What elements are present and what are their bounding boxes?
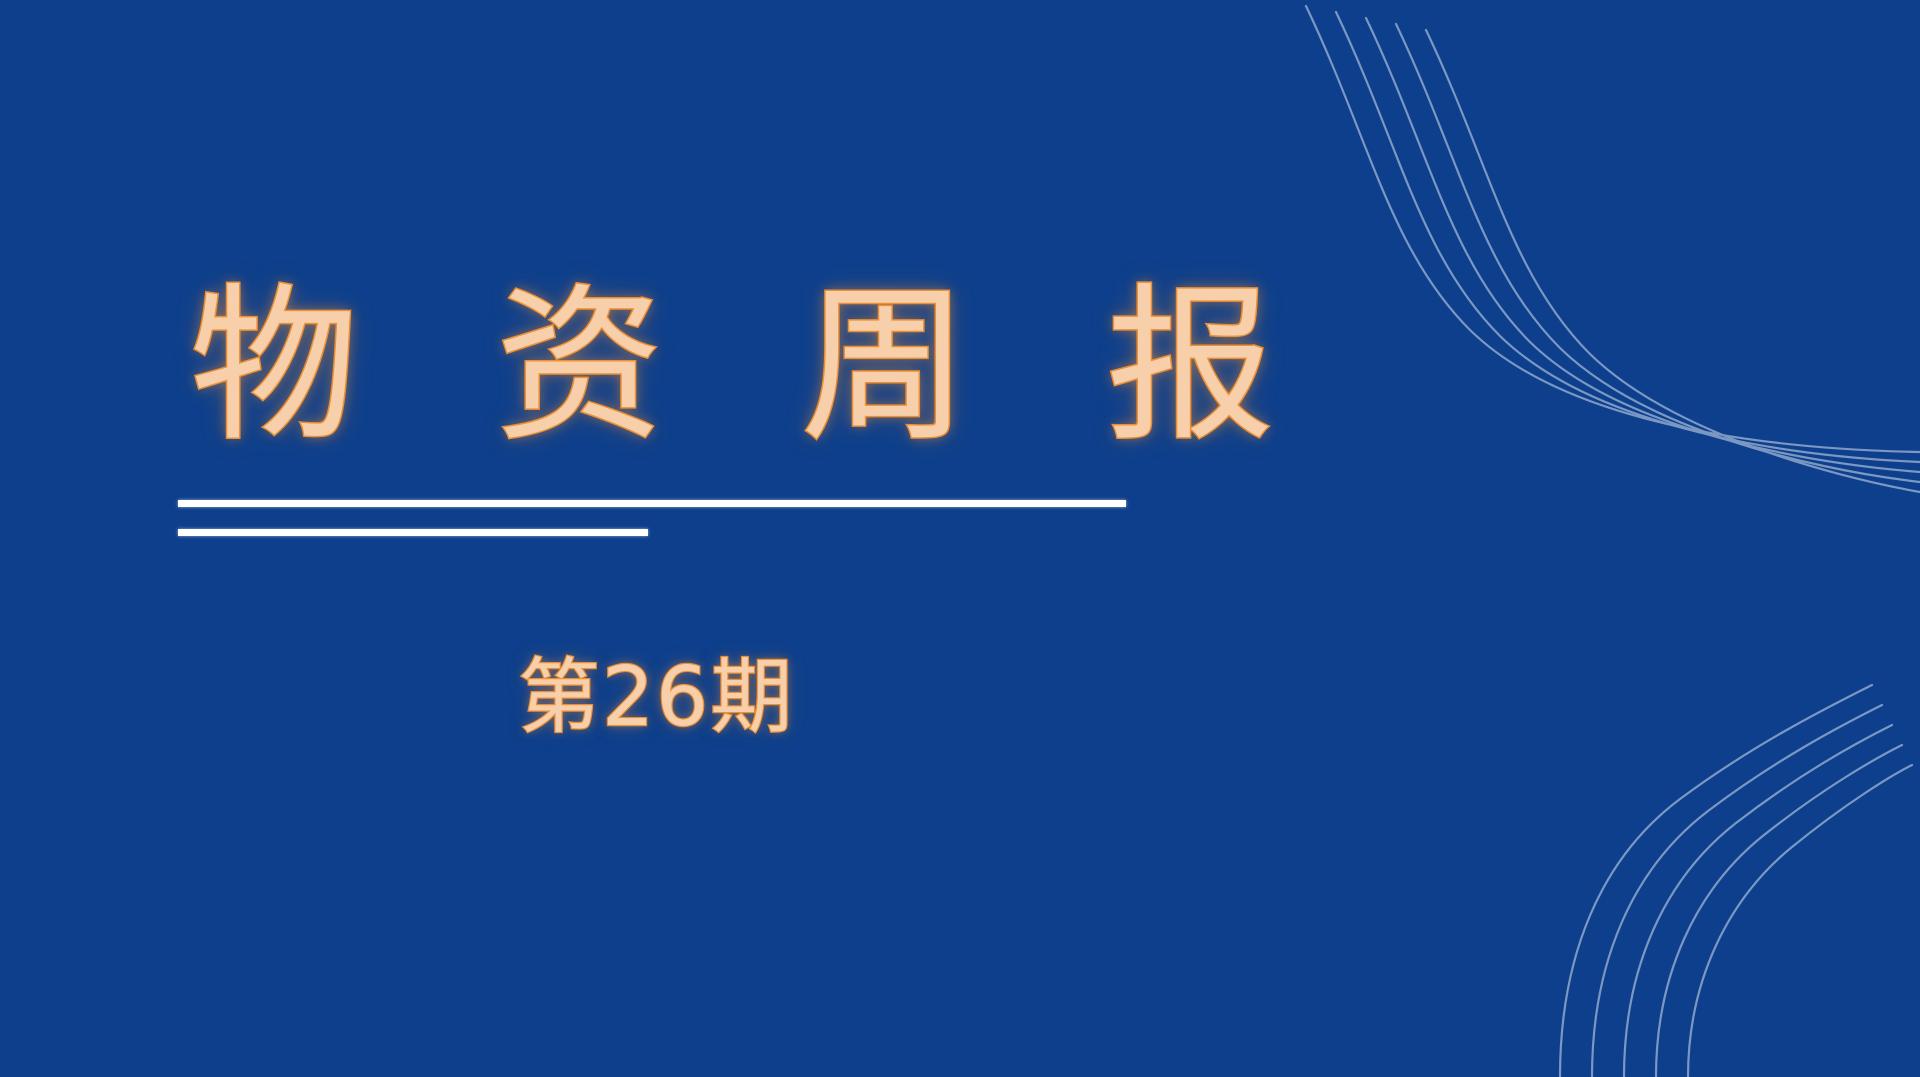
- page-title: 物 资 周 报: [178, 282, 1178, 450]
- title-rule-short: [178, 529, 648, 536]
- wave-line-2: [1336, 12, 1920, 462]
- wave-lines-bottom-right-decoration: [1260, 577, 1920, 1077]
- wave-line-1: [1306, 6, 1920, 452]
- wave-line-5: [1426, 30, 1920, 492]
- wave-line-2: [1592, 705, 1882, 1077]
- cover-slide: 物 资 周 报 第26期: [0, 0, 1920, 1077]
- wave-line-4: [1656, 745, 1902, 1077]
- wave-line-1: [1560, 685, 1872, 1077]
- wave-line-4: [1396, 24, 1920, 482]
- wave-line-5: [1688, 765, 1912, 1077]
- wave-line-3: [1624, 725, 1892, 1077]
- issue-subtitle: 第26期: [518, 657, 794, 739]
- title-rule-long: [178, 500, 1126, 507]
- title-block: 物 资 周 报 第26期: [178, 282, 1178, 450]
- wave-lines-top-right-decoration: [1260, 0, 1920, 500]
- wave-line-3: [1366, 18, 1920, 472]
